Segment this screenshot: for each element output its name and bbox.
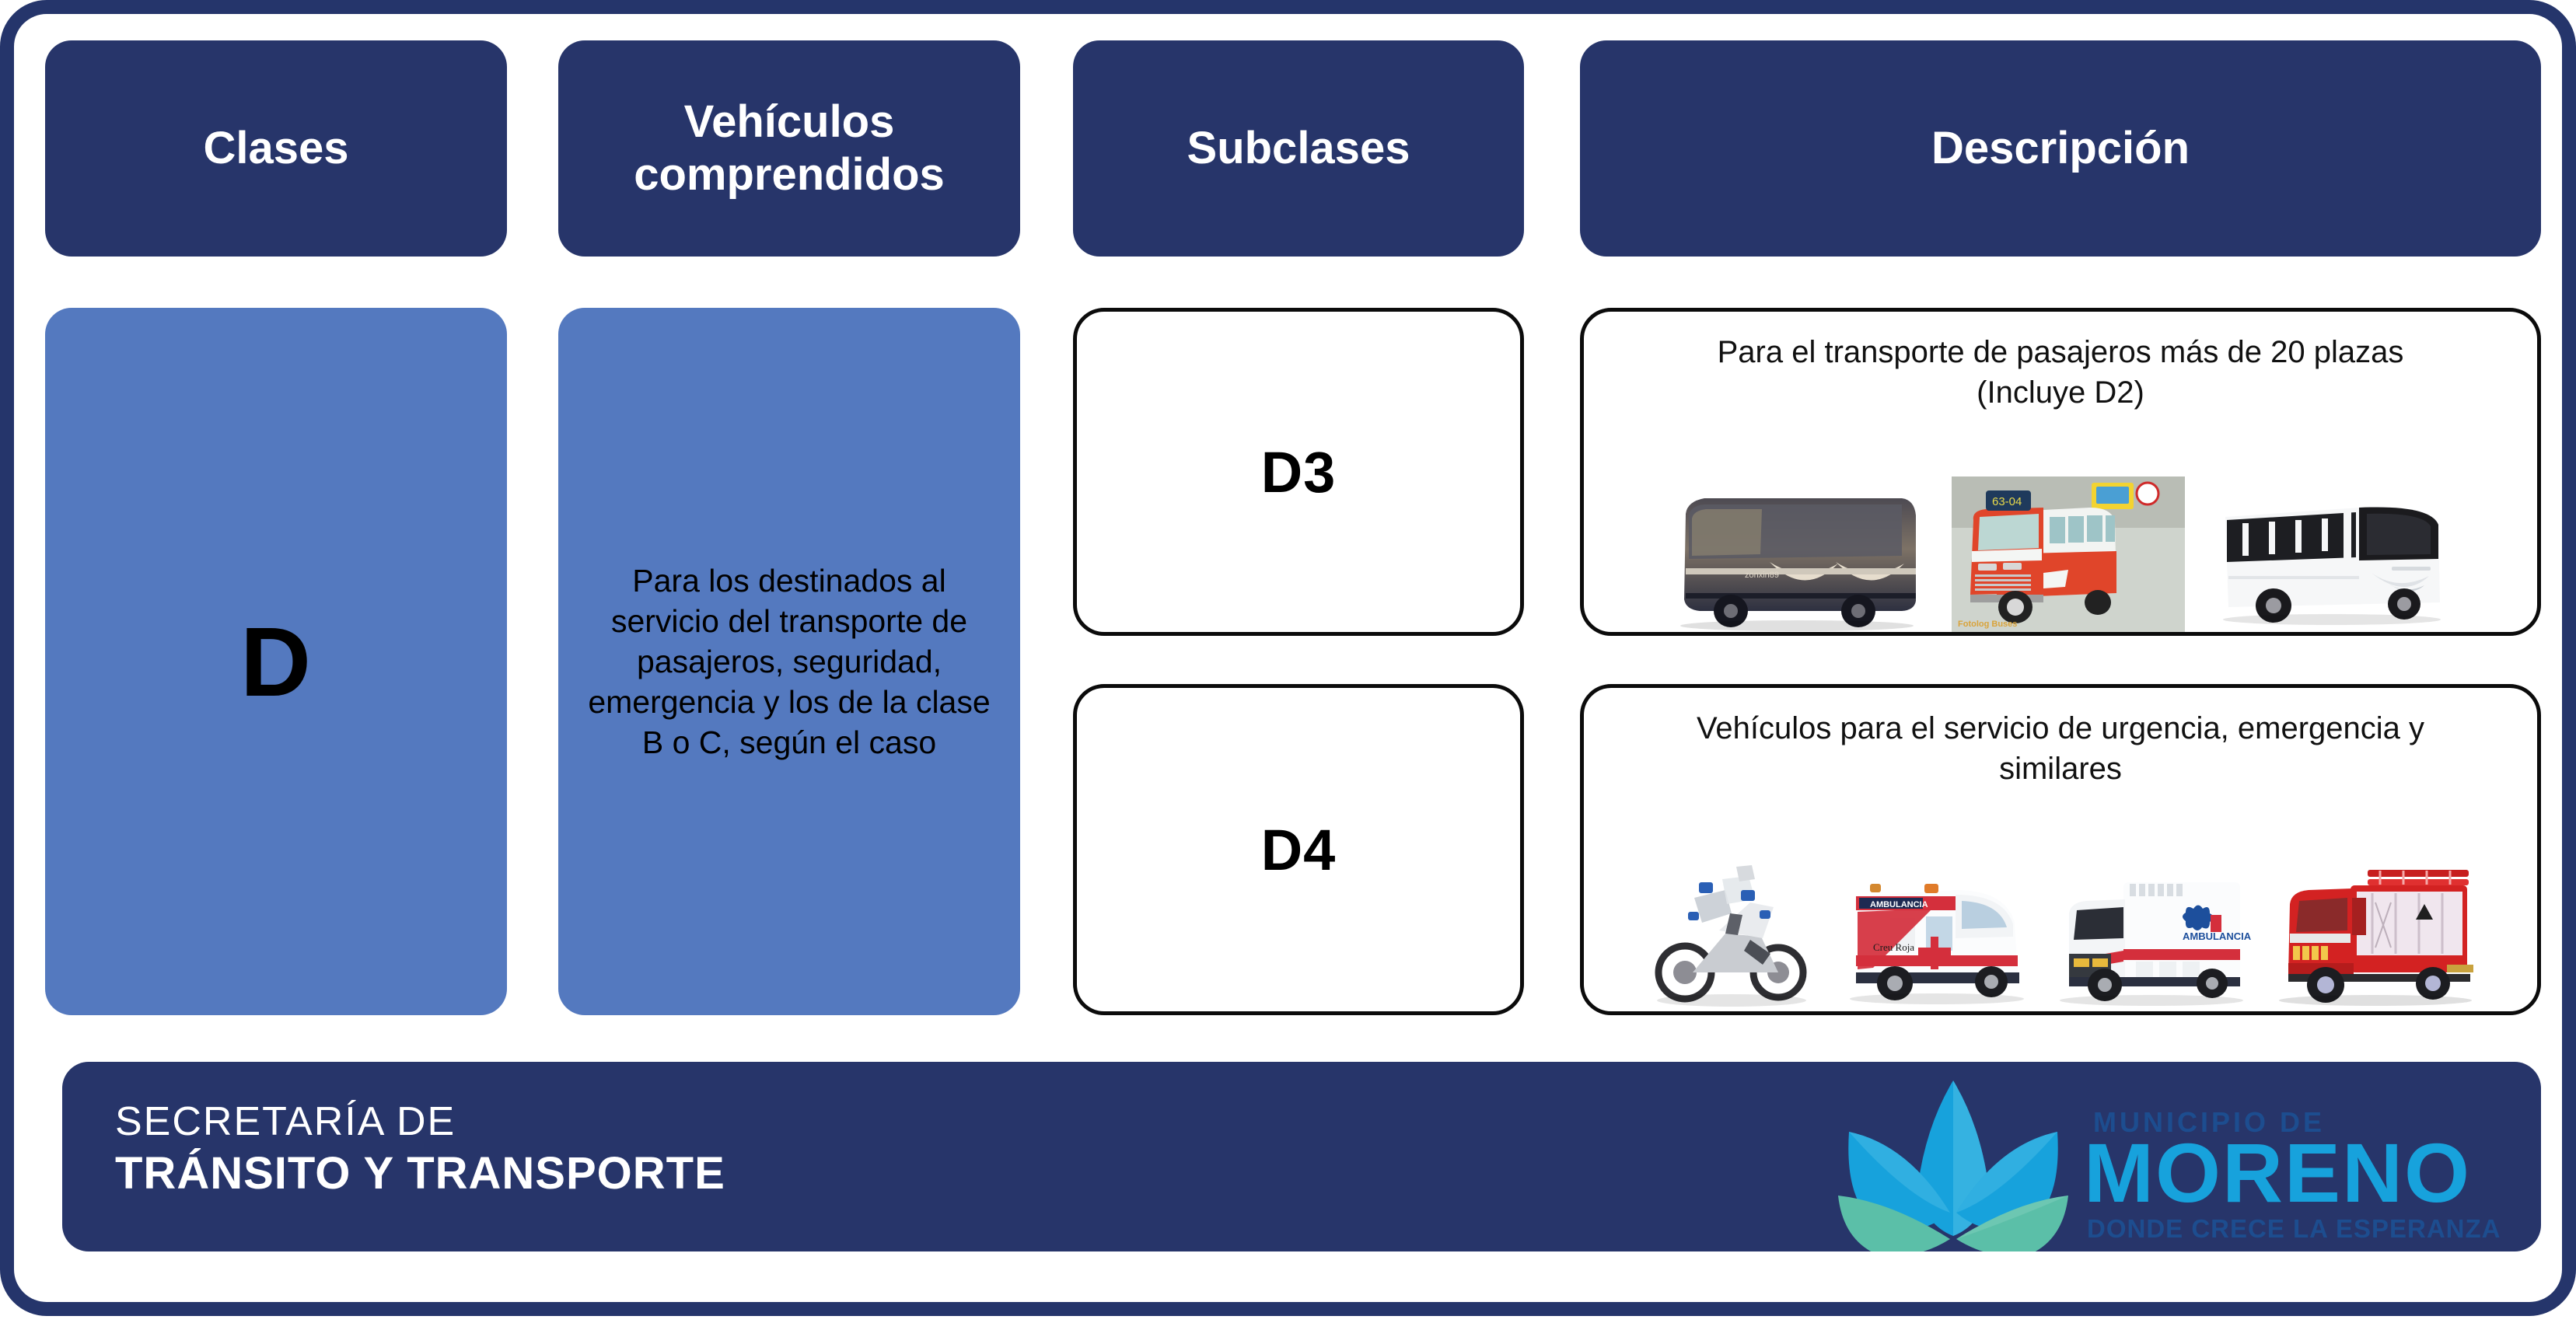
classification-table: Clases Vehículos comprendidos Subclases … [14, 14, 2576, 1330]
svg-text:AMBULANCIA: AMBULANCIA [2183, 930, 2251, 942]
header-vehiculos-label: Vehículos comprendidos [634, 96, 945, 202]
moreno-logo: MUNICIPIO DE MORENO DONDE CRECE LA ESPER… [1837, 1068, 2505, 1251]
logo-tagline: DONDE CRECE LA ESPERANZA [2087, 1214, 2501, 1243]
subclass-code-d3: D3 [1261, 439, 1337, 505]
class-letter: D [240, 606, 312, 718]
header-subclases: Subclases [1073, 40, 1524, 257]
vehicles-included-text: Para los destinados al servicio del tran… [558, 551, 1020, 772]
description-d3-inner: Para el transporte de pasajeros más de 2… [1584, 312, 2537, 632]
footer-line-1: SECRETARÍA DE [115, 1099, 725, 1144]
city-bus-white-icon [2211, 476, 2452, 632]
subclass-code-d4: D4 [1261, 817, 1337, 883]
ambulance-box-truck-icon: AMBULANCIA [2049, 856, 2251, 1011]
header-vehiculos: Vehículos comprendidos [558, 40, 1020, 257]
leaf-plant-icon [1838, 1080, 2068, 1251]
subclass-cell-d3: D3 [1073, 308, 1524, 636]
header-clases: Clases [45, 40, 507, 257]
logo-name: MORENO [2084, 1126, 2471, 1220]
header-descripcion-label: Descripción [1931, 122, 2190, 175]
moreno-logo-svg: MUNICIPIO DE MORENO DONDE CRECE LA ESPER… [1837, 1068, 2505, 1251]
svg-text:AMBULANCIA: AMBULANCIA [1870, 900, 1928, 909]
fire-truck-icon [2267, 856, 2476, 1011]
footer-bar: SECRETARÍA DE TRÁNSITO Y TRANSPORTE [62, 1062, 2541, 1251]
description-d4-text: Vehículos para el servicio de urgencia, … [1660, 708, 2461, 789]
svg-text:zonxin89: zonxin89 [1745, 571, 1779, 580]
page-frame: Clases Vehículos comprendidos Subclases … [0, 0, 2576, 1316]
header-subclases-label: Subclases [1187, 122, 1410, 175]
description-cell-d3: Para el transporte de pasajeros más de 2… [1580, 308, 2541, 636]
vehicle-gallery-d4: AMBULANCIA Creu Roja [1584, 797, 2537, 1011]
svg-text:Creu Roja: Creu Roja [1873, 941, 1914, 953]
description-cell-d4: Vehículos para el servicio de urgencia, … [1580, 684, 2541, 1015]
footer-department: SECRETARÍA DE TRÁNSITO Y TRANSPORTE [115, 1099, 725, 1199]
subclass-cell-d4: D4 [1073, 684, 1524, 1015]
vintage-orange-bus-icon: 63-04 [1952, 476, 2185, 632]
police-motorcycle-icon [1645, 856, 1823, 1011]
header-descripcion: Descripción [1580, 40, 2541, 257]
footer-line-2: TRÁNSITO Y TRANSPORTE [115, 1149, 725, 1199]
vehicle-gallery-d3: zonxin89 [1584, 421, 2537, 632]
description-d4-inner: Vehículos para el servicio de urgencia, … [1584, 688, 2537, 1011]
description-d3-text: Para el transporte de pasajeros más de 2… [1660, 332, 2461, 413]
class-cell-d: D [45, 308, 507, 1015]
ambulance-van-creu-roja-icon: AMBULANCIA Creu Roja [1839, 856, 2033, 1011]
svg-text:Fotolog Buses: Fotolog Buses [1958, 620, 2017, 629]
coach-bus-dark-icon: zonxin89 [1669, 484, 1925, 632]
header-clases-label: Clases [203, 122, 348, 175]
svg-text:63-04: 63-04 [1992, 495, 2022, 508]
vehicles-included-cell: Para los destinados al servicio del tran… [558, 308, 1020, 1015]
